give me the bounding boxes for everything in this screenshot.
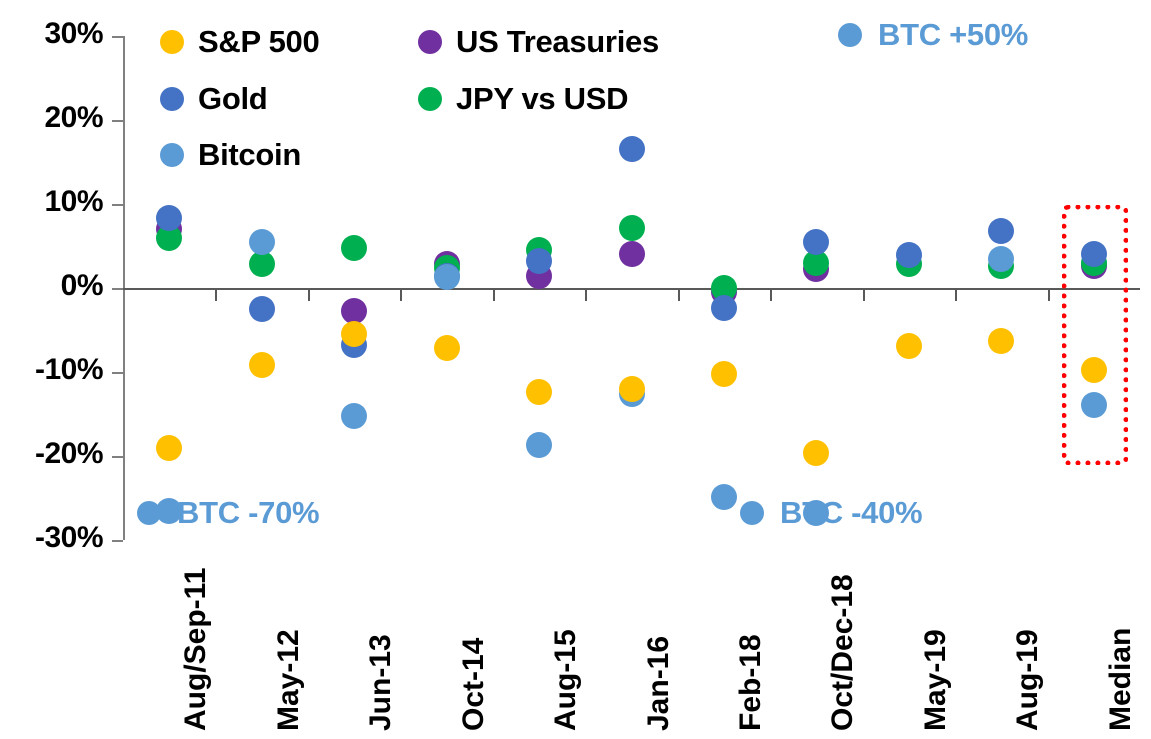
x-tick-10 [1048, 290, 1050, 301]
annotation-dot-btc-minus-70 [137, 501, 161, 525]
data-point-sp500-5 [619, 376, 645, 402]
annotation-dot-btc-minus-40 [740, 501, 764, 525]
x-axis-label-4: Aug-15 [551, 629, 581, 731]
data-point-bitcoin-3 [434, 264, 460, 290]
data-point-gold-7 [803, 229, 829, 255]
legend-item-jpy-vs-usd[interactable]: JPY vs USD [418, 83, 628, 114]
legend-item-bitcoin[interactable]: Bitcoin [160, 139, 301, 170]
data-point-sp500-1 [249, 352, 275, 378]
x-axis-label-1: May-12 [274, 629, 304, 731]
data-point-sp500-9 [988, 328, 1014, 354]
data-point-gold-6 [711, 295, 737, 321]
annotation-btc-minus-40: BTC -40% [740, 497, 922, 528]
data-point-gold-4 [526, 248, 552, 274]
data-point-sp500-6 [711, 361, 737, 387]
median-highlight-box [1062, 205, 1128, 465]
y-tick-5 [112, 456, 123, 458]
data-point-jpy-vs-usd-2 [341, 235, 367, 261]
legend-dot-gold [160, 87, 184, 111]
data-point-jpy-vs-usd-5 [619, 215, 645, 241]
legend-label-sp500: S&P 500 [198, 26, 319, 57]
data-point-bitcoin-1 [249, 229, 275, 255]
data-point-gold-9 [988, 218, 1014, 244]
x-axis-label-3: Oct-14 [459, 638, 489, 731]
x-axis-label-6: Feb-18 [736, 634, 766, 731]
annotation-label-btc-minus-40: BTC -40% [780, 497, 922, 528]
data-point-us-treasuries-2 [341, 298, 367, 324]
legend-label-jpy-vs-usd: JPY vs USD [456, 83, 628, 114]
data-point-bitcoin-6 [711, 484, 737, 510]
x-axis-line [123, 288, 1140, 290]
y-axis-label-6: -30% [0, 523, 103, 553]
x-axis-label-2: Jun-13 [366, 634, 396, 731]
y-tick-6 [112, 540, 123, 542]
y-tick-4 [112, 372, 123, 374]
data-point-sp500-7 [803, 440, 829, 466]
x-tick-2 [308, 290, 310, 301]
x-tick-9 [955, 290, 957, 301]
data-point-gold-1 [249, 296, 275, 322]
x-tick-4 [493, 290, 495, 301]
y-axis-label-3: 0% [0, 271, 103, 301]
data-point-sp500-4 [526, 379, 552, 405]
annotation-dot-btc-plus-50 [838, 23, 862, 47]
y-tick-2 [112, 204, 123, 206]
x-tick-1 [215, 290, 217, 301]
data-point-gold-5 [619, 136, 645, 162]
legend-item-sp500[interactable]: S&P 500 [160, 26, 319, 57]
data-point-sp500-3 [434, 335, 460, 361]
data-point-bitcoin-9 [988, 246, 1014, 272]
data-point-bitcoin-4 [526, 432, 552, 458]
x-axis-label-8: May-19 [921, 629, 951, 731]
legend-item-us-treasuries[interactable]: US Treasuries [418, 26, 659, 57]
x-tick-5 [585, 290, 587, 301]
y-tick-3 [112, 288, 123, 290]
x-tick-8 [863, 290, 865, 301]
x-axis-label-0: Aug/Sep-11 [181, 568, 211, 731]
legend-dot-bitcoin [160, 143, 184, 167]
legend-label-gold: Gold [198, 83, 267, 114]
annotation-btc-plus-50: BTC +50% [838, 19, 1028, 50]
data-point-sp500-8 [896, 333, 922, 359]
x-tick-3 [400, 290, 402, 301]
y-axis-label-4: -10% [0, 355, 103, 385]
legend-dot-us-treasuries [418, 30, 442, 54]
legend-item-gold[interactable]: Gold [160, 83, 267, 114]
annotation-label-btc-minus-70: BTC -70% [177, 497, 319, 528]
y-axis-label-1: 20% [0, 103, 103, 133]
data-point-gold-8 [896, 242, 922, 268]
data-point-us-treasuries-5 [619, 241, 645, 267]
annotation-label-btc-plus-50: BTC +50% [878, 19, 1028, 50]
x-tick-7 [770, 290, 772, 301]
legend-dot-sp500 [160, 30, 184, 54]
annotation-btc-minus-70: BTC -70% [137, 497, 319, 528]
scatter-chart: 30% 20% 10% 0% -10% -20% -30% Aug/Sep-11… [0, 0, 1151, 739]
y-tick-0 [112, 36, 123, 38]
legend-label-bitcoin: Bitcoin [198, 139, 301, 170]
legend-label-us-treasuries: US Treasuries [456, 26, 659, 57]
y-axis-label-5: -20% [0, 439, 103, 469]
legend-dot-jpy-vs-usd [418, 87, 442, 111]
y-axis-label-2: 10% [0, 187, 103, 217]
x-axis-label-9: Aug-19 [1013, 629, 1043, 731]
x-axis-label-7: Oct/Dec-18 [828, 574, 858, 731]
x-axis-label-10: Median [1106, 628, 1136, 731]
y-axis-label-0: 30% [0, 19, 103, 49]
data-point-sp500-0 [156, 435, 182, 461]
data-point-jpy-vs-usd-1 [249, 251, 275, 277]
y-tick-1 [112, 120, 123, 122]
x-tick-6 [678, 290, 680, 301]
x-axis-label-5: Jan-16 [644, 636, 674, 731]
data-point-bitcoin-2 [341, 403, 367, 429]
